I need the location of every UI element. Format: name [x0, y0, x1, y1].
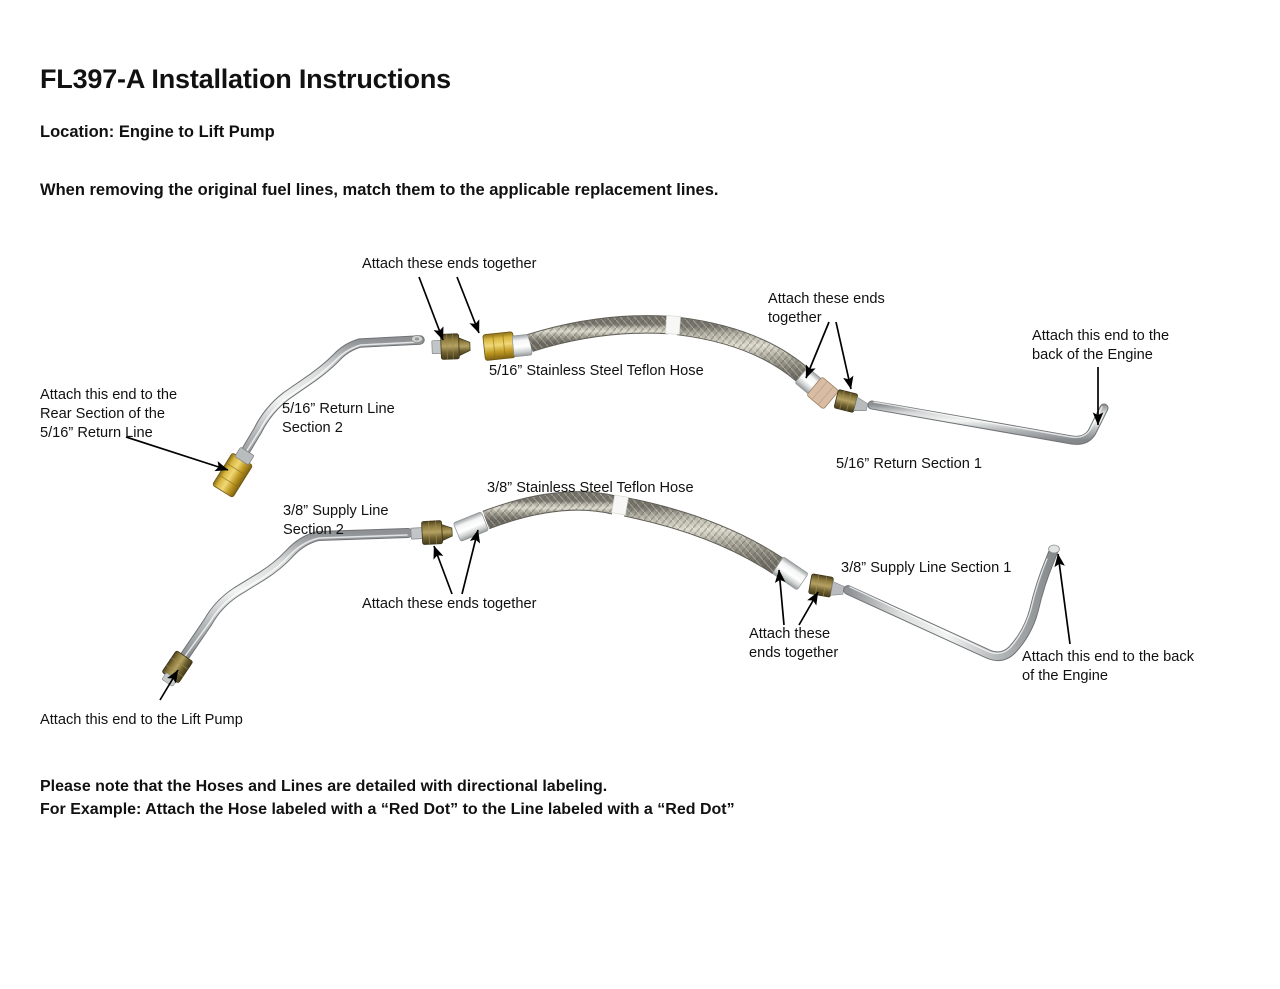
note-line-1: Please note that the Hoses and Lines are… — [40, 778, 607, 796]
label-attach-engine-upper: Attach this end to the back of the Engin… — [1032, 327, 1169, 365]
label-return-section-1: 5/16” Return Section 1 — [836, 455, 982, 474]
location-line: Location: Engine to Lift Pump — [40, 123, 275, 142]
label-return-line-section-2: 5/16” Return Line Section 2 — [282, 400, 395, 438]
label-attach-ends-left-lower: Attach these ends together — [362, 595, 536, 614]
label-attach-ends-right-upper: Attach these ends together — [768, 290, 885, 328]
brass-fitting-lift-pump — [159, 650, 193, 688]
label-supply-line-section-2: 3/8” Supply Line Section 2 — [283, 502, 388, 540]
stainless-teflon-hose-38 — [453, 495, 808, 590]
male-fitting-supply-section-1 — [808, 574, 845, 600]
note-line-2: For Example: Attach the Hose labeled wit… — [40, 801, 735, 819]
ferrule-piece-upper — [411, 335, 422, 342]
installation-instructions-document: FL397-A Installation Instructions Locati… — [0, 0, 1280, 989]
label-attach-ends-right-lower: Attach these ends together — [749, 625, 838, 663]
label-hose-38: 3/8” Stainless Steel Teflon Hose — [487, 479, 694, 498]
male-fitting-return-section-1 — [834, 389, 870, 415]
page-title: FL397-A Installation Instructions — [40, 64, 451, 95]
intro-line: When removing the original fuel lines, m… — [40, 181, 718, 200]
brass-fitting-return-rear — [212, 445, 257, 498]
label-supply-line-section-1: 3/8” Supply Line Section 1 — [841, 559, 1011, 578]
label-attach-engine-lower: Attach this end to the back of the Engin… — [1022, 648, 1194, 686]
label-attach-ends-top: Attach these ends together — [362, 255, 536, 274]
label-attach-lift-pump: Attach this end to the Lift Pump — [40, 711, 243, 730]
label-hose-516: 5/16” Stainless Steel Teflon Hose — [489, 362, 704, 381]
male-fitting-supply-section-2 — [411, 520, 453, 545]
label-attach-rear-section: Attach this end to the Rear Section of t… — [40, 386, 177, 443]
annotation-arrows-lower — [160, 530, 1070, 700]
male-fitting-return-section-2 — [432, 333, 471, 359]
return-line-section-1 — [872, 402, 1104, 440]
